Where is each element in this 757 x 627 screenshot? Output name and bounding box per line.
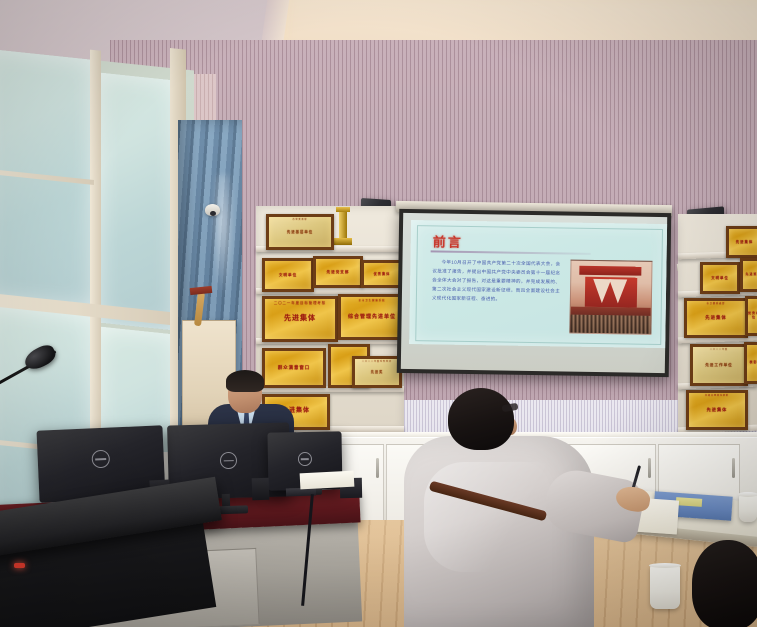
loose-papers[interactable] bbox=[300, 471, 355, 490]
award-plaque-subtext: 全市卫生健康系统 bbox=[341, 299, 403, 302]
award-plaque-text: 先进党支部 bbox=[327, 270, 350, 274]
paper-cup-3[interactable] bbox=[739, 494, 757, 522]
award-plaque-text: 文明单位 bbox=[711, 276, 729, 280]
photo-drape-right bbox=[609, 279, 627, 303]
award-plaque-subtext: 二〇二二年度综合考评 bbox=[355, 361, 399, 364]
award-plaque-text: 先进奖 bbox=[745, 273, 757, 277]
slide-title: 前言 bbox=[433, 231, 463, 250]
award-plaque-text: 文明单位 bbox=[279, 273, 297, 277]
award-plaque-text: 先进集体 bbox=[707, 407, 728, 412]
award-plaque-text: 先进集体 bbox=[705, 315, 727, 321]
attendee-2-head bbox=[692, 540, 757, 627]
award-plaque-text: 优秀单位 bbox=[748, 312, 757, 320]
award-plaque-text: 综合管理先进单位 bbox=[348, 314, 396, 320]
presenter-hair bbox=[226, 370, 264, 392]
dell-logo-icon-left bbox=[91, 450, 110, 469]
trophy-base bbox=[334, 238, 352, 245]
binder-sticky-note bbox=[676, 497, 702, 507]
conference-room-photo: 先进基层单位市党委表彰文明单位先进党支部优秀集体先进集体二〇二一年度目标管理考核… bbox=[0, 0, 757, 627]
av-device-2[interactable] bbox=[252, 478, 270, 501]
award-plaque-right-1: 先进集体 bbox=[726, 226, 757, 258]
dome-camera-lens bbox=[210, 211, 216, 216]
award-plaque-right-2: 文明单位 bbox=[700, 262, 740, 294]
award-plaque-right-6: 先进工作单位二〇二二年度 bbox=[690, 344, 748, 386]
cabinet-handle-1[interactable] bbox=[376, 458, 379, 478]
award-plaque-right-4: 先进集体市卫健委表彰 bbox=[684, 298, 748, 338]
award-plaque-subtext: 市卫健委表彰 bbox=[687, 303, 745, 306]
award-plaque-left-4: 优秀集体 bbox=[361, 260, 403, 288]
award-plaque-subtext: 二〇二二年度 bbox=[693, 349, 745, 352]
cup-rim-3 bbox=[738, 492, 757, 497]
status-led bbox=[14, 563, 25, 568]
award-plaque-left-2: 文明单位 bbox=[262, 258, 314, 292]
award-plaque-right-7: 表彰 bbox=[744, 342, 757, 384]
photo-audience bbox=[570, 315, 650, 334]
slide: 前言 今年10月召开了中国共产党第二十次全国代表大会，会议批准了报告，并提出中国… bbox=[409, 220, 667, 348]
award-plaque-subtext: 二〇二一年度目标管理考核 bbox=[265, 301, 335, 305]
award-plaque-text: 先进奖 bbox=[371, 370, 384, 374]
award-plaque-left-1: 先进基层单位市党委表彰 bbox=[266, 214, 334, 250]
projection-screen[interactable]: 前言 今年10月召开了中国共产党第二十次全国代表大会，会议批准了报告，并提出中国… bbox=[397, 209, 672, 377]
award-plaque-left-9: 先进奖二〇二二年度综合考评 bbox=[352, 356, 402, 388]
award-plaque-subtext: 市党委表彰 bbox=[269, 219, 331, 222]
award-plaque-text: 群众满意窗口 bbox=[278, 365, 310, 371]
screen-surface: 前言 今年10月召开了中国共产党第二十次全国代表大会，会议批准了报告，并提出中国… bbox=[401, 213, 667, 373]
cabinet-handle-5[interactable] bbox=[732, 458, 735, 478]
photo-banner bbox=[579, 266, 641, 276]
award-plaque-text: 优秀集体 bbox=[374, 272, 391, 276]
award-plaque-text: 先进集体 bbox=[736, 240, 754, 244]
award-plaque-text: 先进工作单位 bbox=[705, 363, 733, 367]
award-plaque-left-3: 先进党支部 bbox=[313, 256, 363, 288]
award-plaque-left-6: 综合管理先进单位全市卫生健康系统 bbox=[338, 294, 406, 340]
curtain-highlight bbox=[212, 175, 234, 295]
award-plaque-text: 先进集体 bbox=[284, 315, 316, 324]
attendee-head bbox=[448, 388, 514, 450]
award-plaque-right-8: 先进集体市级文明单位表彰 bbox=[686, 390, 748, 430]
award-plaque-subtext: 市级文明单位表彰 bbox=[689, 395, 745, 398]
trophy-body bbox=[339, 212, 347, 238]
award-plaque-right-3: 先进奖 bbox=[740, 258, 757, 292]
paper-cup-2[interactable] bbox=[650, 565, 680, 609]
award-plaque-text: 先进基层单位 bbox=[287, 230, 313, 234]
dell-logo-icon-right bbox=[298, 452, 312, 466]
award-plaque-left-5: 先进集体二〇二一年度目标管理考核 bbox=[262, 296, 338, 342]
award-plaque-text: 表彰 bbox=[749, 361, 757, 365]
dell-logo-icon-center bbox=[220, 452, 237, 469]
award-plaque-left-7: 群众满意窗口 bbox=[262, 348, 326, 388]
cup-rim-2 bbox=[649, 563, 681, 568]
award-plaque-right-5: 优秀单位 bbox=[745, 296, 757, 336]
cabinet-handle-4[interactable] bbox=[648, 458, 651, 478]
slide-photo bbox=[569, 260, 652, 335]
slide-body-text: 今年10月召开了中国共产党第二十次全国代表大会，会议批准了报告，并提出中国共产党… bbox=[432, 258, 561, 305]
window-glass-upper-right bbox=[98, 72, 176, 330]
